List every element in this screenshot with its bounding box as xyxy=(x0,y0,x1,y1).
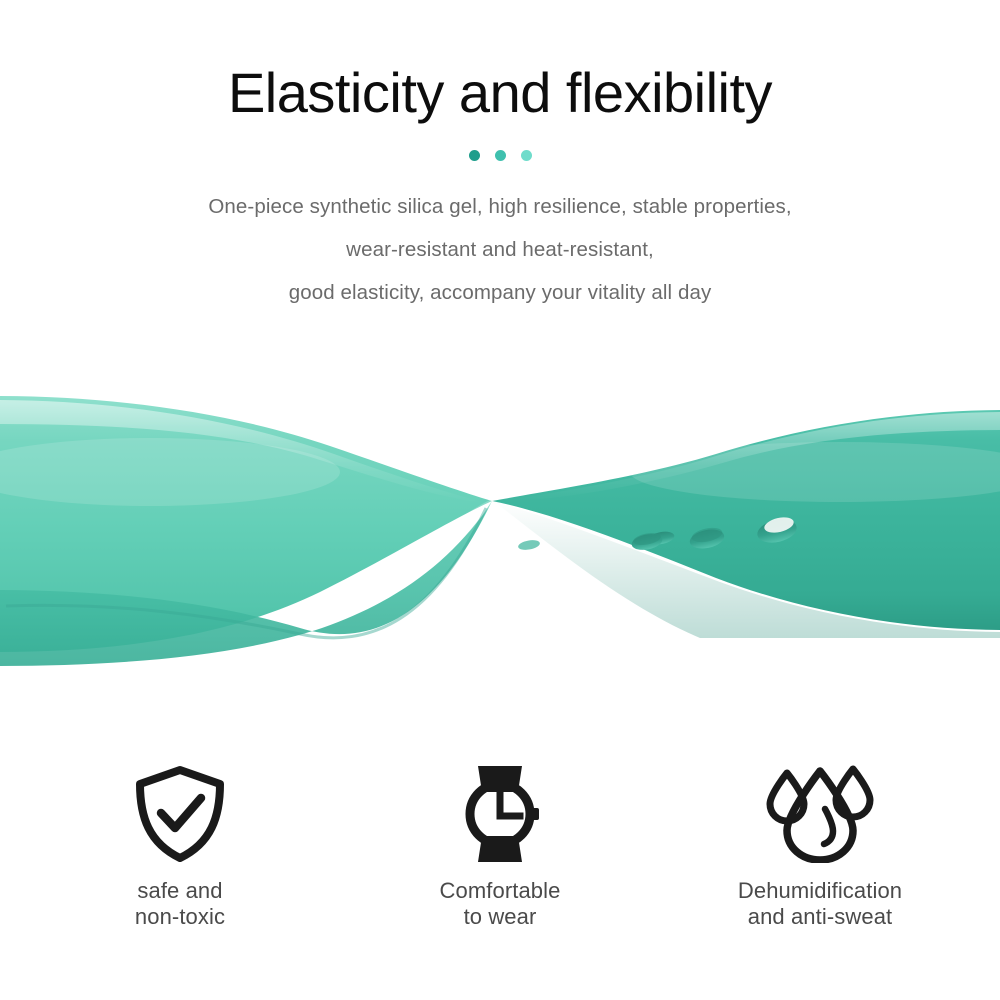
feature-label-safe-non-toxic: safe and non-toxic xyxy=(135,878,225,930)
feature-item-comfortable-to-wear: Comfortable to wear xyxy=(340,762,660,930)
feature-list: safe and non-toxic Comfortable to we xyxy=(0,762,1000,962)
feature-label-dehumidification: Dehumidification and anti-sweat xyxy=(738,878,902,930)
adjustment-hole-0 xyxy=(517,539,540,552)
wristwatch-icon xyxy=(458,762,542,866)
band-right-segment xyxy=(400,410,1000,680)
subtitle: One-piece synthetic silica gel, high res… xyxy=(0,185,1000,314)
dot-2-icon xyxy=(495,150,506,161)
subtitle-line-1: One-piece synthetic silica gel, high res… xyxy=(0,185,1000,228)
subtitle-line-3: good elasticity, accompany your vitality… xyxy=(0,271,1000,314)
shield-check-icon xyxy=(133,762,227,866)
dot-1-icon xyxy=(469,150,480,161)
header: Elasticity and flexibility One-piece syn… xyxy=(0,0,1000,314)
dot-3-icon xyxy=(521,150,532,161)
feature-item-safe-non-toxic: safe and non-toxic xyxy=(20,762,340,930)
product-image xyxy=(0,380,1000,680)
page-title: Elasticity and flexibility xyxy=(0,62,1000,125)
product-feature-page: Elasticity and flexibility One-piece syn… xyxy=(0,0,1000,1000)
feature-label-comfortable-to-wear: Comfortable to wear xyxy=(440,878,561,930)
band-left-segment xyxy=(0,396,492,666)
subtitle-line-2: wear-resistant and heat-resistant, xyxy=(0,228,1000,271)
water-drops-icon xyxy=(765,762,875,866)
feature-item-dehumidification: Dehumidification and anti-sweat xyxy=(660,762,980,930)
dot-separator xyxy=(0,149,1000,163)
